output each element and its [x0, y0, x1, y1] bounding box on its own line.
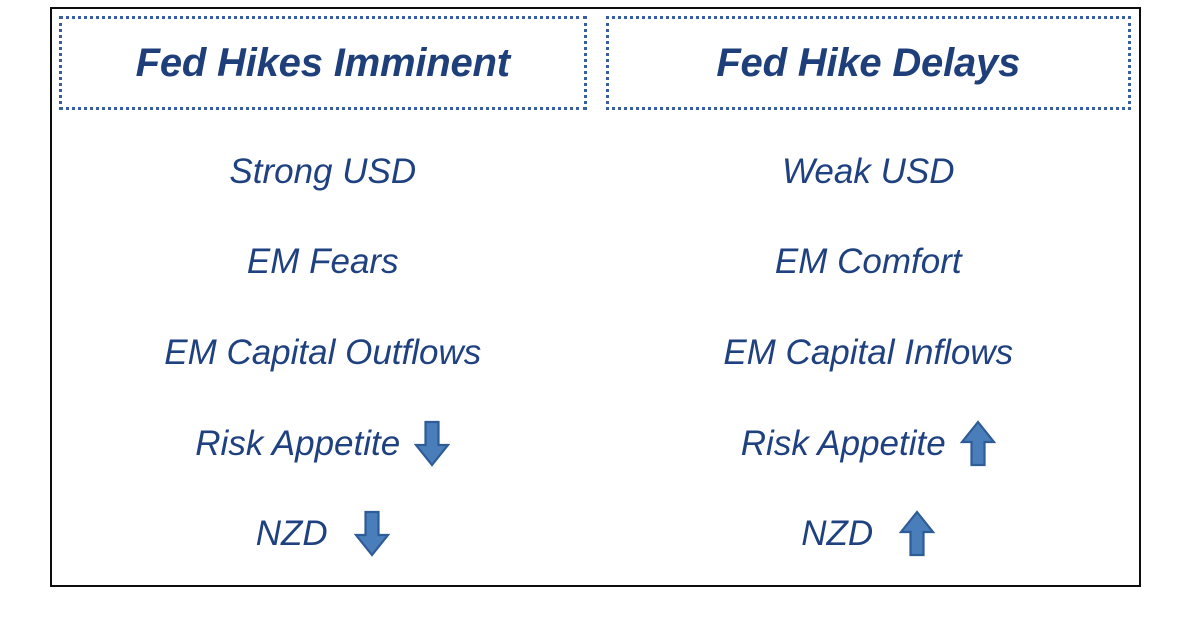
column-fed-hike-delays: Fed Hike Delays Weak USD EM Comfort EM C… [596, 9, 1140, 585]
row-item: EM Fears [59, 217, 587, 308]
down-arrow-icon [354, 510, 390, 557]
row-item: EM Comfort [606, 217, 1132, 308]
row-label: Weak USD [782, 154, 954, 189]
row-item: Weak USD [606, 126, 1132, 217]
two-column-layout: Fed Hikes Imminent Strong USD EM Fears E… [52, 9, 1139, 585]
row-label: Risk Appetite [741, 426, 946, 461]
slide-outer-frame: Fed Hikes Imminent Strong USD EM Fears E… [50, 7, 1141, 587]
row-label: NZD [256, 516, 328, 551]
rows-left: Strong USD EM Fears EM Capital Outflows … [59, 110, 587, 585]
slide-canvas: Fed Hikes Imminent Strong USD EM Fears E… [0, 0, 1196, 618]
row-item: EM Capital Inflows [606, 307, 1132, 398]
column-fed-hikes-imminent: Fed Hikes Imminent Strong USD EM Fears E… [52, 9, 596, 585]
row-item: NZD [59, 488, 587, 579]
row-label: EM Comfort [775, 244, 962, 279]
row-item: Risk Appetite [606, 398, 1132, 489]
row-label: EM Capital Outflows [164, 335, 481, 370]
row-item: Strong USD [59, 126, 587, 217]
row-item: NZD [606, 488, 1132, 579]
header-box-right: Fed Hike Delays [606, 16, 1132, 110]
row-label: EM Capital Inflows [723, 335, 1013, 370]
rows-right: Weak USD EM Comfort EM Capital Inflows R… [606, 110, 1132, 585]
down-arrow-icon [414, 420, 450, 467]
row-label: EM Fears [247, 244, 399, 279]
row-item: Risk Appetite [59, 398, 587, 489]
header-title-left: Fed Hikes Imminent [136, 43, 510, 83]
header-title-right: Fed Hike Delays [716, 43, 1020, 83]
row-item: EM Capital Outflows [59, 307, 587, 398]
up-arrow-icon [960, 420, 996, 467]
up-arrow-icon [899, 510, 935, 557]
header-box-left: Fed Hikes Imminent [59, 16, 587, 110]
row-label: Risk Appetite [195, 426, 400, 461]
row-label: Strong USD [229, 154, 416, 189]
row-label: NZD [801, 516, 873, 551]
